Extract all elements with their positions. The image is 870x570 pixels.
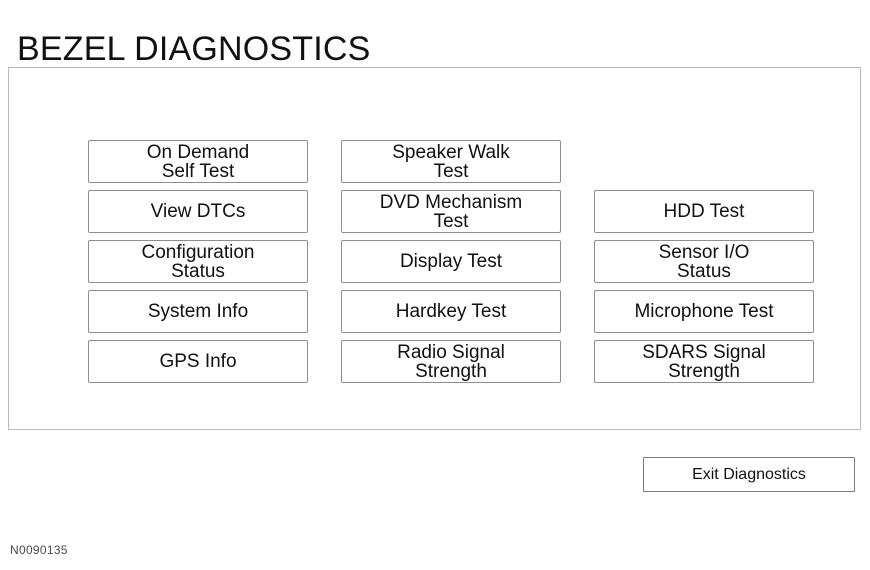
diag-button-on-demand-self-test[interactable]: On Demand Self Test bbox=[88, 140, 308, 183]
button-column-1: On Demand Self TestView DTCsConfiguratio… bbox=[88, 140, 308, 390]
diag-button-sdars-signal-strength[interactable]: SDARS Signal Strength bbox=[594, 340, 814, 383]
diag-button-label: Speaker Walk Test bbox=[392, 143, 510, 181]
diag-button-label: Sensor I/O Status bbox=[659, 243, 750, 281]
exit-diagnostics-label: Exit Diagnostics bbox=[692, 466, 806, 484]
diag-button-system-info[interactable]: System Info bbox=[88, 290, 308, 333]
diag-button-microphone-test[interactable]: Microphone Test bbox=[594, 290, 814, 333]
diag-button-display-test[interactable]: Display Test bbox=[341, 240, 561, 283]
diag-button-radio-signal-strength[interactable]: Radio Signal Strength bbox=[341, 340, 561, 383]
diag-button-hdd-test[interactable]: HDD Test bbox=[594, 190, 814, 233]
button-column-3: HDD TestSensor I/O StatusMicrophone Test… bbox=[594, 140, 814, 390]
diag-button-configuration-status[interactable]: Configuration Status bbox=[88, 240, 308, 283]
diag-button-label: DVD Mechanism Test bbox=[380, 193, 523, 231]
diag-button-label: GPS Info bbox=[159, 352, 236, 371]
diag-button-label: Radio Signal Strength bbox=[397, 343, 505, 381]
button-column-2: Speaker Walk TestDVD Mechanism TestDispl… bbox=[341, 140, 561, 390]
diag-button-hardkey-test[interactable]: Hardkey Test bbox=[341, 290, 561, 333]
page-title: BEZEL DIAGNOSTICS bbox=[17, 30, 371, 68]
diag-button-label: System Info bbox=[148, 302, 248, 321]
diag-button-sensor-io-status[interactable]: Sensor I/O Status bbox=[594, 240, 814, 283]
exit-diagnostics-button[interactable]: Exit Diagnostics bbox=[643, 457, 855, 492]
diag-button-dvd-mechanism-test[interactable]: DVD Mechanism Test bbox=[341, 190, 561, 233]
diag-button-label: SDARS Signal Strength bbox=[642, 343, 766, 381]
diag-button-view-dtcs[interactable]: View DTCs bbox=[88, 190, 308, 233]
diag-button-label: Configuration Status bbox=[141, 243, 254, 281]
diag-button-gps-info[interactable]: GPS Info bbox=[88, 340, 308, 383]
diag-button-label: HDD Test bbox=[664, 202, 745, 221]
diag-button-label: Display Test bbox=[400, 252, 502, 271]
diag-button-label: View DTCs bbox=[151, 202, 246, 221]
diag-button-label: Hardkey Test bbox=[396, 302, 507, 321]
diag-button-speaker-walk-test[interactable]: Speaker Walk Test bbox=[341, 140, 561, 183]
figure-reference-id: N0090135 bbox=[10, 543, 68, 557]
diagnostics-button-grid: On Demand Self TestView DTCsConfiguratio… bbox=[88, 140, 815, 383]
diag-button-label: On Demand Self Test bbox=[147, 143, 249, 181]
diag-button-label: Microphone Test bbox=[634, 302, 773, 321]
